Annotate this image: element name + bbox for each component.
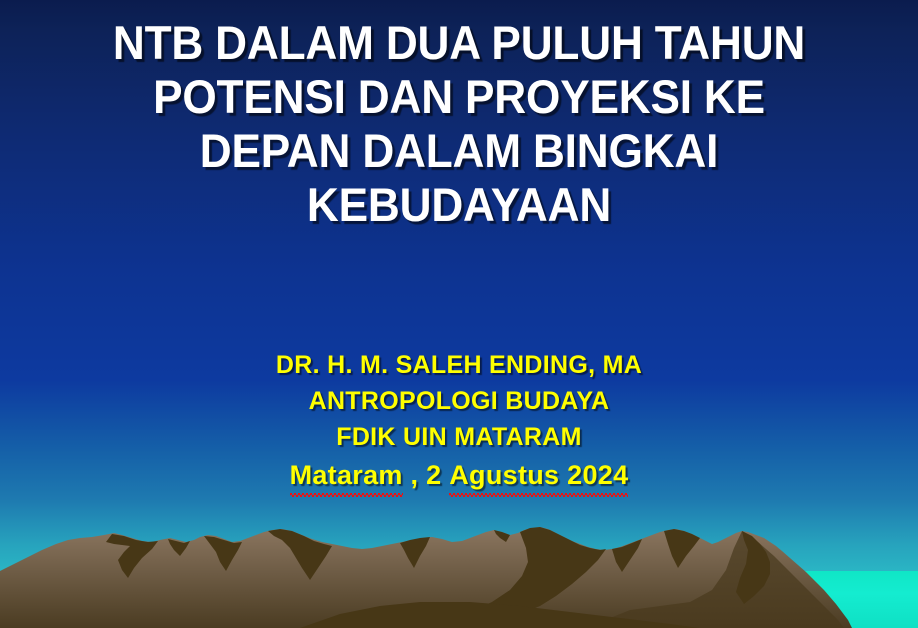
title-line-2: POTENSI DAN PROYEKSI KE — [28, 70, 891, 124]
title-line-3: DEPAN DALAM BINGKAI — [28, 124, 891, 178]
presentation-date: Mataram , 2 Agustus 2024 — [0, 455, 918, 495]
presenter-institution: FDIK UIN MATARAM — [0, 419, 918, 455]
mountain-silhouette — [0, 518, 918, 628]
presenter-name: DR. H. M. SALEH ENDING, MA — [0, 347, 918, 383]
slide-title: NTB DALAM DUA PULUH TAHUN POTENSI DAN PR… — [0, 16, 918, 232]
date-city-misspelled: Mataram — [290, 455, 403, 495]
title-line-1: NTB DALAM DUA PULUH TAHUN — [28, 16, 891, 70]
presenter-department: ANTROPOLOGI BUDAYA — [0, 383, 918, 419]
date-separator: , 2 — [403, 460, 450, 490]
slide-subtitle: DR. H. M. SALEH ENDING, MA ANTROPOLOGI B… — [0, 347, 918, 495]
presentation-slide: NTB DALAM DUA PULUH TAHUN POTENSI DAN PR… — [0, 0, 918, 628]
date-month-year-misspelled: Agustus 2024 — [449, 455, 628, 495]
title-line-4: KEBUDAYAAN — [28, 178, 891, 232]
